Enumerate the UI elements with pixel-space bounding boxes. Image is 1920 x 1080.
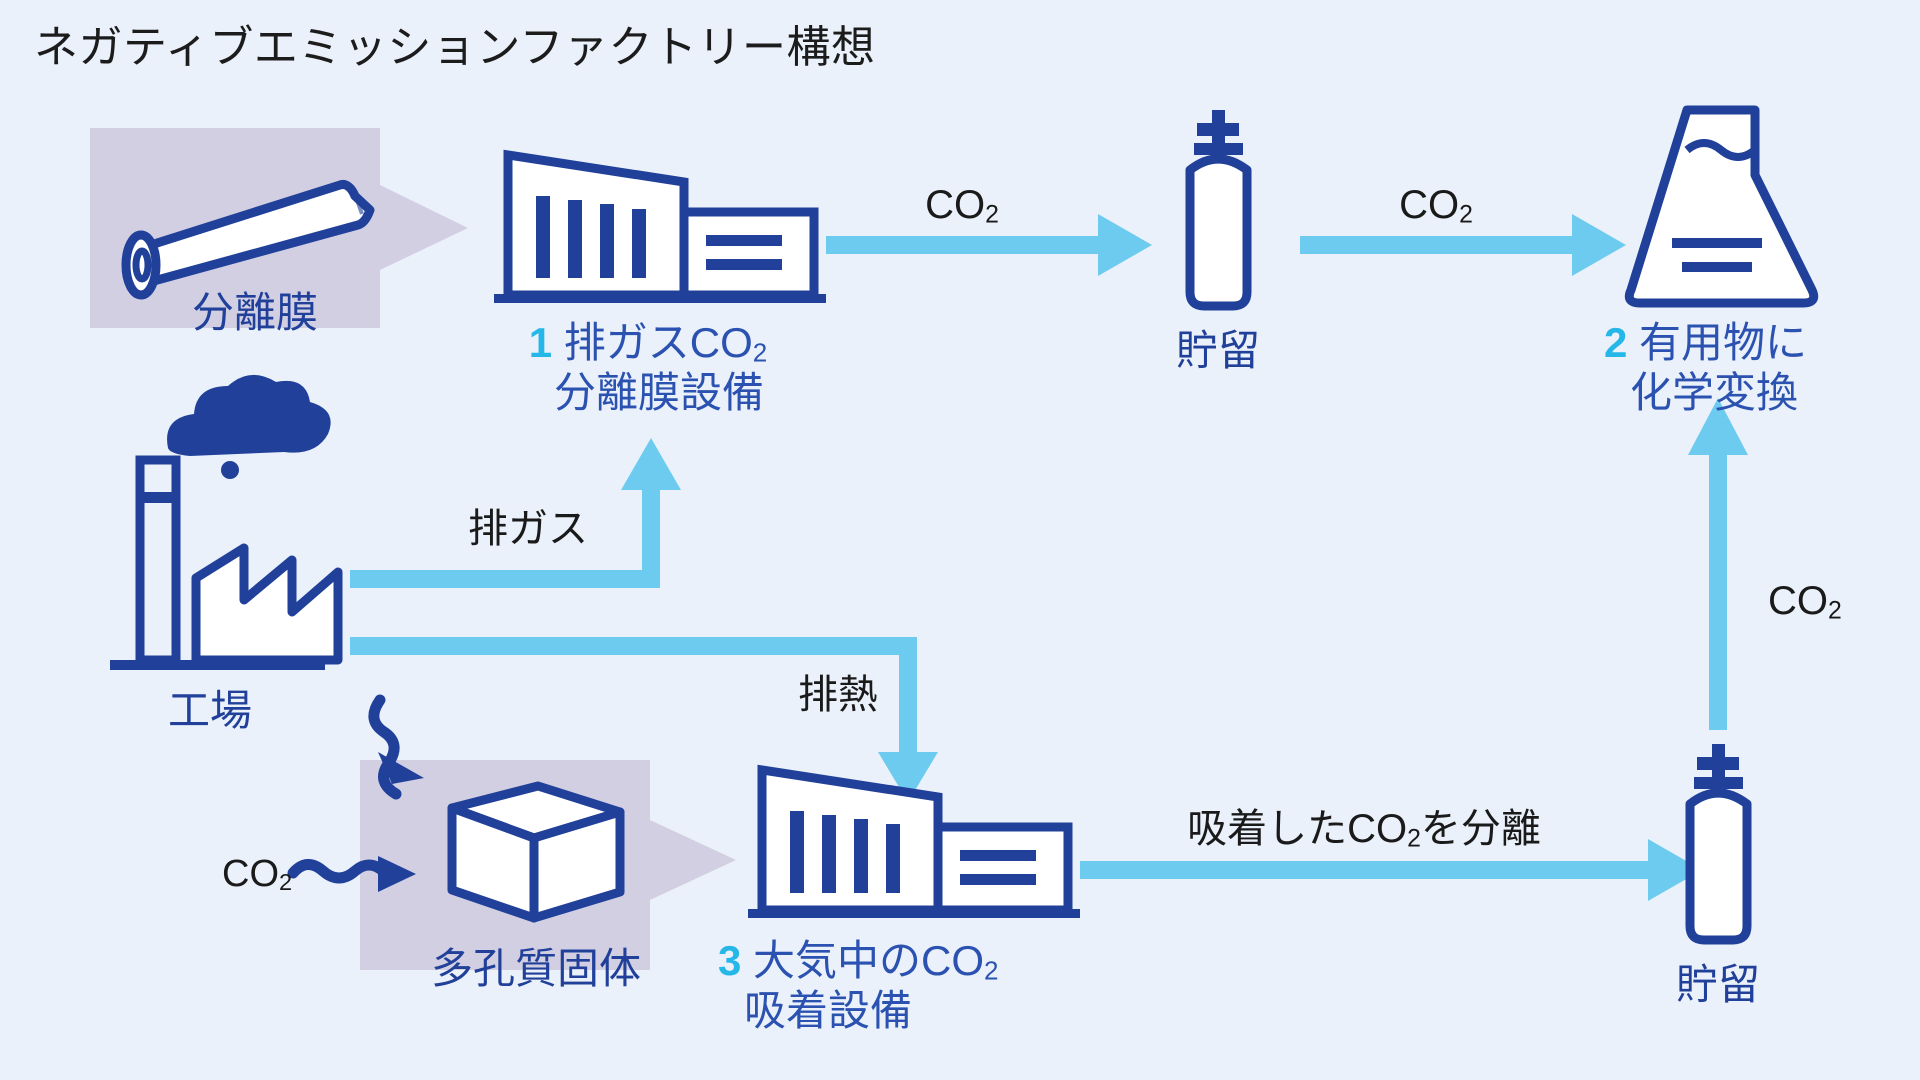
step2-number: 2 <box>1604 319 1627 366</box>
arrow-co2-riser <box>1688 398 1748 730</box>
adsorbed-pre: 吸着した <box>1187 807 1347 851</box>
co2-text: CO <box>925 183 985 227</box>
step1-line1-text: 排ガスCO <box>564 319 753 366</box>
step3-line1: 3 大気中のCO2 <box>718 936 999 986</box>
co2-text: CO <box>1768 579 1828 623</box>
factory-icon <box>110 375 338 670</box>
flow-label-co2-top-left: CO2 <box>925 182 999 230</box>
plant-facility-icon-1 <box>494 155 826 303</box>
co2-sub: 2 <box>1407 825 1421 852</box>
gas-cylinder-icon-bottom <box>1690 744 1747 940</box>
co2-sub: 2 <box>279 869 292 895</box>
membrane-label: 分離膜 <box>192 288 318 338</box>
flow-label-co2-inlet: CO2 <box>222 852 292 897</box>
co2-sub: 2 <box>1828 597 1842 624</box>
flow-label-co2-top-right: CO2 <box>1399 182 1473 230</box>
purple-arrow-to-step3 <box>650 820 736 900</box>
step3-number: 3 <box>718 937 741 984</box>
step1-line2: 分離膜設備 <box>529 368 768 418</box>
flow-label-co2-riser: CO2 <box>1768 578 1842 626</box>
step2-line2: 化学変換 <box>1604 368 1807 418</box>
step1-number: 1 <box>529 319 552 366</box>
step2-label: 2 有用物に 化学変換 <box>1604 318 1807 417</box>
flow-label-adsorbed-co2: 吸着したCO2を分離 <box>1187 806 1541 854</box>
cube-icon <box>452 786 620 918</box>
purple-arrow-to-step1 <box>380 185 468 270</box>
step3-line1-sub: 2 <box>984 956 998 986</box>
co2-sub: 2 <box>1459 201 1473 228</box>
step3-line2: 吸着設備 <box>718 986 999 1036</box>
step1-label: 1 排ガスCO2 分離膜設備 <box>529 318 768 418</box>
gas-cylinder-icon-top <box>1190 110 1247 306</box>
step2-line1-text: 有用物に <box>1639 319 1807 366</box>
storage-bottom-label: 貯留 <box>1676 960 1760 1010</box>
co2-text: CO <box>1347 807 1407 851</box>
step2-line1: 2 有用物に <box>1604 318 1807 368</box>
page-title: ネガティブエミッションファクトリー構想 <box>34 22 876 74</box>
co2-sub: 2 <box>985 201 999 228</box>
co2-text: CO <box>222 853 279 895</box>
step1-line1: 1 排ガスCO2 <box>529 318 768 368</box>
storage-top-label: 貯留 <box>1176 326 1260 376</box>
flask-icon <box>1629 110 1813 303</box>
adsorbed-post: を分離 <box>1421 807 1541 851</box>
porous-solid-label: 多孔質固体 <box>431 944 641 994</box>
factory-label: 工場 <box>168 686 252 736</box>
step3-line1-text: 大気中のCO <box>753 937 984 984</box>
diagram-graphics <box>0 0 1920 1080</box>
flow-label-waste-heat: 排熱 <box>798 672 878 719</box>
plant-facility-icon-3 <box>748 770 1080 918</box>
diagram-canvas: ネガティブエミッションファクトリー構想 分離膜 1 排ガスCO2 分離膜設備 C… <box>0 0 1920 1080</box>
flow-label-exhaust-gas: 排ガス <box>468 506 588 553</box>
step1-line1-sub: 2 <box>753 338 767 368</box>
co2-text: CO <box>1399 183 1459 227</box>
step3-label: 3 大気中のCO2 吸着設備 <box>718 936 999 1036</box>
